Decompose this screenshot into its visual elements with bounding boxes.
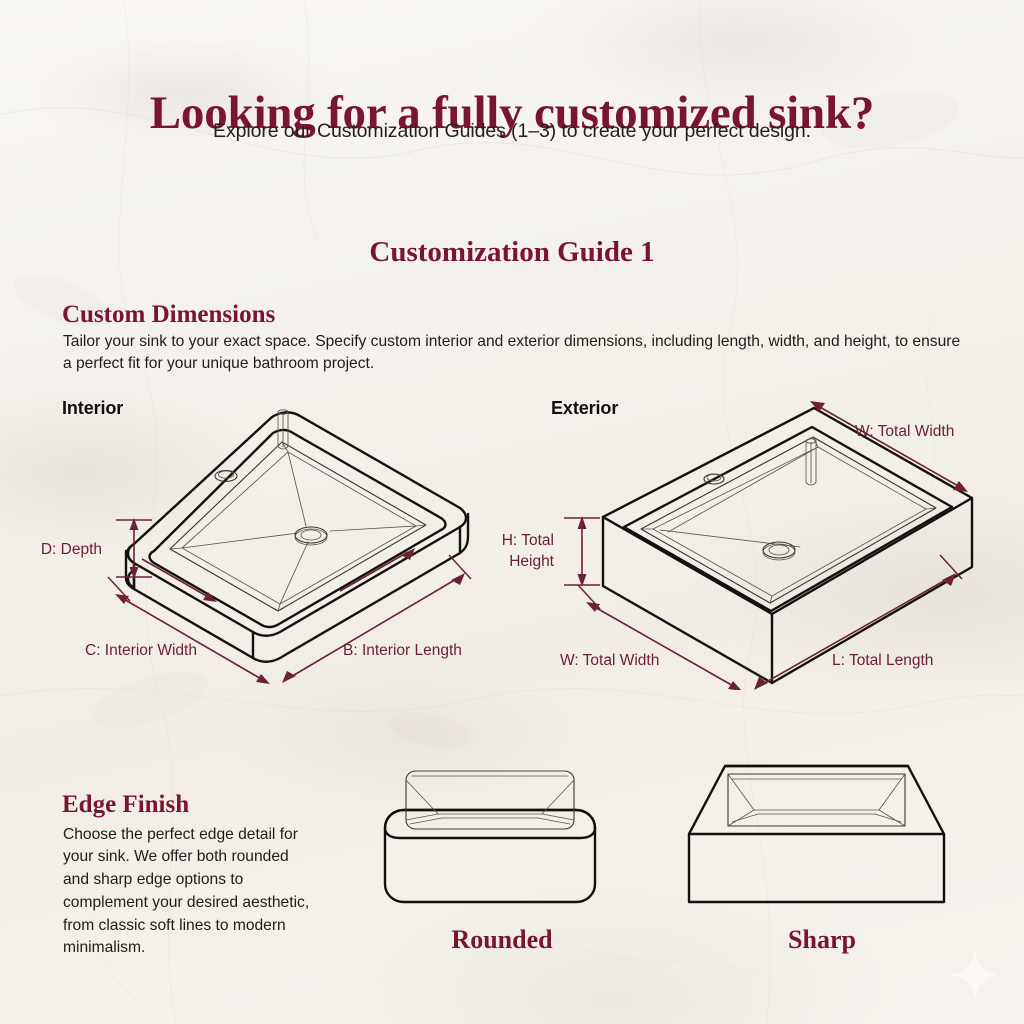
exterior-sink-diagram: W: Total Width H: Total Height W: Total … bbox=[500, 390, 1020, 690]
edge-finish-heading: Edge Finish bbox=[62, 791, 189, 819]
page-root: Looking for a fully customized sink? Exp… bbox=[0, 0, 1024, 1024]
interior-sink-diagram: D: Depth C: Interior Width B: Interior L… bbox=[30, 390, 500, 690]
sink-outer-body bbox=[126, 412, 468, 661]
sink-outer-body bbox=[603, 408, 972, 683]
sharp-caption: Sharp bbox=[692, 925, 952, 955]
rounded-sink-body bbox=[385, 771, 595, 902]
custom-dimensions-heading: Custom Dimensions bbox=[62, 301, 275, 329]
dimension-total-height: H: Total Height bbox=[502, 516, 600, 587]
dimension-label-depth: D: Depth bbox=[41, 541, 102, 558]
dimension-depth: D: Depth bbox=[41, 518, 152, 579]
exterior-panel-label: Exterior bbox=[551, 398, 618, 419]
sink-inner-rim bbox=[624, 427, 952, 611]
sink-inner-rim bbox=[150, 430, 446, 627]
overflow-standpipe bbox=[278, 410, 288, 449]
dimension-label-total-length: L: Total Length bbox=[832, 652, 933, 669]
dimension-label-interior-width: C: Interior Width bbox=[85, 642, 197, 659]
dimension-interior-width: C: Interior Width bbox=[85, 559, 270, 684]
interior-panel-label: Interior bbox=[62, 398, 123, 419]
custom-dimensions-body: Tailor your sink to your exact space. Sp… bbox=[63, 331, 963, 375]
dimension-label-total-width-bottom: W: Total Width bbox=[560, 652, 659, 669]
sharp-edge-sink bbox=[672, 752, 992, 922]
rounded-caption: Rounded bbox=[372, 925, 632, 955]
dimension-total-width-bottom: W: Total Width bbox=[560, 585, 742, 690]
sharp-sink-body bbox=[689, 766, 944, 902]
guide-title: Customization Guide 1 bbox=[0, 236, 1024, 269]
dimension-total-length: L: Total Length bbox=[754, 555, 962, 690]
faucet-hole bbox=[704, 474, 724, 484]
dimension-label-total-height-line1: H: Total bbox=[502, 532, 554, 549]
dimension-label-total-height-line2: Height bbox=[509, 553, 554, 570]
edge-finish-body: Choose the perfect edge detail for your … bbox=[63, 824, 318, 961]
page-subtitle: Explore our Customization Guides (1–3) t… bbox=[0, 120, 1024, 143]
drain-hole bbox=[763, 542, 795, 560]
sink-basin bbox=[641, 437, 936, 603]
rounded-edge-sink bbox=[330, 752, 650, 922]
dimension-label-total-width-top: W: Total Width bbox=[855, 423, 954, 440]
sink-basin bbox=[170, 442, 426, 611]
overflow-standpipe bbox=[806, 439, 816, 485]
drain-hole bbox=[295, 527, 327, 545]
dimension-interior-length: B: Interior Length bbox=[282, 548, 471, 683]
dimension-label-interior-length: B: Interior Length bbox=[343, 642, 462, 659]
diamond-sparkle-watermark bbox=[948, 948, 1002, 1002]
faucet-hole bbox=[215, 471, 237, 482]
dimension-total-width-top: W: Total Width bbox=[810, 401, 968, 492]
